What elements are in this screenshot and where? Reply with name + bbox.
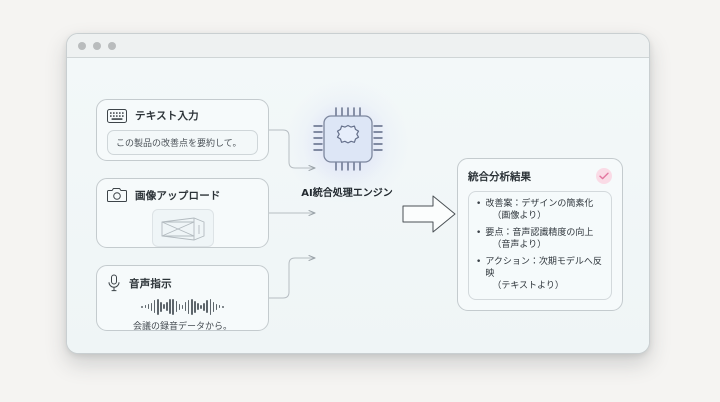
diagram-canvas: テキスト入力 この製品の改善点を要約して。 画像アップロード (67, 58, 649, 354)
input-card-text[interactable]: テキスト入力 この製品の改善点を要約して。 (96, 99, 269, 161)
card-header: テキスト入力 (107, 108, 258, 123)
list-item: • アクション：次期モデルへ反映 （テキストより） (476, 256, 604, 292)
list-item-source: （音声より） (485, 239, 593, 251)
check-circle-icon (596, 168, 612, 184)
card-header: 画像アップロード (107, 187, 258, 203)
ai-engine: AI統合処理エンジン (300, 102, 394, 199)
window-titlebar (67, 34, 649, 58)
microphone-icon (107, 274, 121, 292)
card-header: 音声指示 (107, 274, 258, 292)
bullet-dot-icon: • (476, 227, 481, 251)
audio-waveform-icon (107, 298, 258, 315)
list-item-main: 要点：音声認識精度の向上 (485, 228, 593, 238)
check-glyph (599, 172, 609, 180)
result-title-text: 統合分析結果 (468, 169, 531, 184)
wireframe-box-icon (158, 214, 208, 242)
input-card-voice[interactable]: 音声指示 会議の録音データから。 (96, 265, 269, 331)
bullet-dot-icon: • (476, 198, 481, 222)
list-item: • 要点：音声認識精度の向上 （音声より） (476, 227, 604, 251)
bullet-dot-icon: • (476, 256, 481, 292)
list-item: • 改善案：デザインの簡素化 （画像より） (476, 198, 604, 222)
minimize-button-icon[interactable] (93, 42, 101, 50)
card-title-text: 音声指示 (129, 276, 172, 291)
result-panel[interactable]: 統合分析結果 • 改善案：デザインの簡素化 （画像より） • (457, 158, 623, 311)
card-title-text: テキスト入力 (135, 108, 199, 123)
input-card-image[interactable]: 画像アップロード (96, 178, 269, 248)
image-thumbnail[interactable] (152, 209, 214, 247)
ai-engine-label: AI統合処理エンジン (300, 184, 394, 199)
text-prompt-value: この製品の改善点を要約して。 (116, 136, 241, 149)
maximize-button-icon[interactable] (108, 42, 116, 50)
camera-icon (107, 187, 127, 203)
voice-caption-text: 会議の録音データから。 (107, 319, 258, 332)
cpu-chip-icon (308, 102, 386, 176)
text-prompt-input[interactable]: この製品の改善点を要約して。 (107, 130, 258, 155)
close-button-icon[interactable] (78, 42, 86, 50)
list-item-source: （画像より） (485, 210, 593, 222)
list-item-main: 改善案：デザインの簡素化 (485, 199, 593, 209)
result-header: 統合分析結果 (468, 168, 612, 184)
list-item-main: アクション：次期モデルへ反映 (485, 257, 602, 279)
keyboard-icon (107, 109, 127, 123)
app-window: テキスト入力 この製品の改善点を要約して。 画像アップロード (66, 33, 650, 354)
card-title-text: 画像アップロード (135, 188, 221, 203)
list-item-source: （テキストより） (485, 280, 604, 292)
result-list: • 改善案：デザインの簡素化 （画像より） • 要点：音声認識精度の向上 （音声… (468, 191, 612, 300)
